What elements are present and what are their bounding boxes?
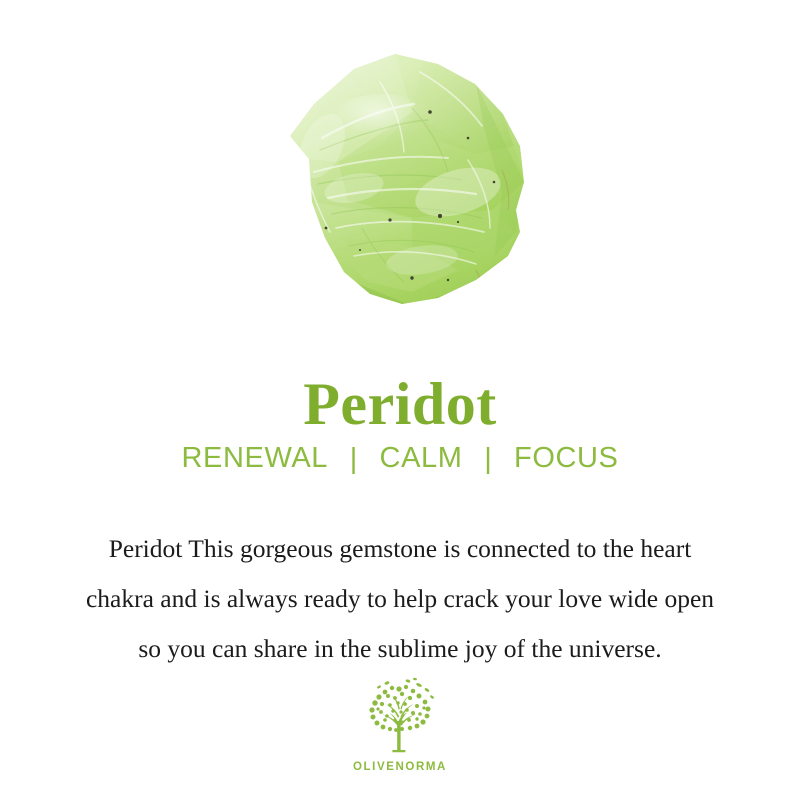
brand-name: OLIVENORMA (0, 761, 800, 773)
description-line: so you can share in the sublime joy of t… (28, 624, 772, 674)
keyword-list: RENEWAL | CALM | FOCUS (0, 440, 800, 476)
keyword-focus: FOCUS (514, 440, 619, 476)
description-line: Peridot This gorgeous gemstone is connec… (28, 524, 772, 574)
product-info-card: Peridot RENEWAL | CALM | FOCUS Peridot T… (0, 0, 800, 800)
keyword-separator: | (337, 441, 371, 477)
description-line: chakra and is always ready to help crack… (28, 574, 772, 624)
gemstone-figure (0, 0, 800, 320)
keyword-separator: | (471, 441, 505, 477)
keyword-renewal: RENEWAL (182, 440, 329, 476)
description-text: Peridot This gorgeous gemstone is connec… (28, 524, 772, 674)
tree-logo-icon (357, 676, 443, 758)
raw-peridot-crystal-icon (262, 42, 538, 314)
page-title: Peridot (0, 370, 800, 438)
keyword-calm: CALM (380, 440, 463, 476)
brand-logo: OLIVENORMA (0, 676, 800, 773)
